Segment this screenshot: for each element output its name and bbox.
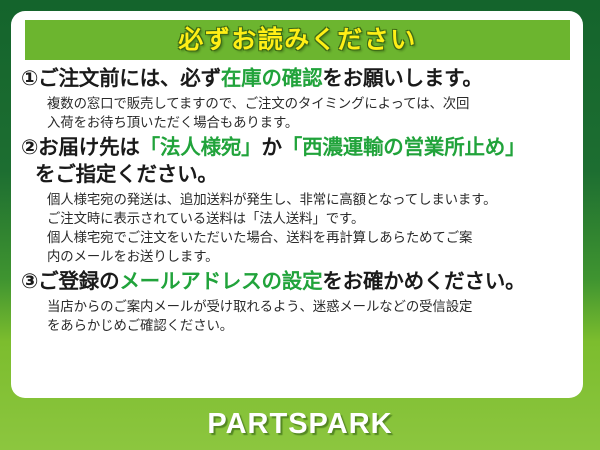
notice-item-2: ②お届け先は「法人様宛」か「西濃運輸の営業所止め」をご指定ください。 個人様宅宛… [21, 135, 575, 266]
notice-item-1: ①ご注文前には、必ず在庫の確認をお願いします。 複数の窓口で販売してますので、ご… [21, 66, 575, 132]
notice-item-2-text-a: お届け先は [38, 136, 140, 159]
notice-item-2-marker: ② [21, 136, 38, 159]
notice-item-1-highlight: 在庫の確認 [221, 67, 323, 90]
notice-item-2-desc-line-2: ご注文時に表示されている送料は「法人送料」です。 [47, 209, 575, 228]
notice-item-3: ③ご登録のメールアドレスの設定をお確かめください。 当店からのご案内メールが受け… [21, 269, 575, 335]
notice-item-3-text-a: ご登録の [38, 270, 119, 293]
notice-item-2-description: 個人様宅宛の発送は、追加送料が発生し、非常に高額となってしまいます。 ご注文時に… [21, 190, 575, 266]
notice-item-1-text-b: をお願いします。 [322, 67, 482, 90]
notice-poster: 必ずお読みください ①ご注文前には、必ず在庫の確認をお願いします。 複数の窓口で… [0, 0, 600, 450]
notice-item-3-heading: ③ご登録のメールアドレスの設定をお確かめください。 [21, 269, 575, 295]
header-banner: 必ずお読みください [25, 20, 570, 60]
notice-item-3-marker: ③ [21, 270, 38, 293]
brand-logo-text: PARTSPARK [207, 408, 392, 441]
notice-item-2-highlight-corporate: 「法人様宛」 [140, 136, 262, 159]
notice-item-2-heading-line-2: をご指定ください。 [21, 162, 575, 188]
notice-items-list: ①ご注文前には、必ず在庫の確認をお願いします。 複数の窓口で販売してますので、ご… [11, 66, 583, 338]
notice-item-2-text-b: か [261, 136, 281, 159]
notice-item-1-desc-line-2: 入荷をお待ち頂いただく場合もあります。 [47, 113, 575, 132]
notice-item-1-marker: ① [21, 67, 38, 90]
notice-item-1-heading: ①ご注文前には、必ず在庫の確認をお願いします。 [21, 66, 575, 92]
notice-card: 必ずお読みください ①ご注文前には、必ず在庫の確認をお願いします。 複数の窓口で… [11, 11, 583, 398]
notice-item-3-text-b: をお確かめください。 [322, 270, 525, 293]
notice-item-2-desc-line-3: 個人様宅宛でご注文をいただいた場合、送料を再計算しあらためてご案 [47, 228, 575, 247]
notice-item-3-description: 当店からのご案内メールが受け取れるよう、迷惑メールなどの受信設定 をあらかじめご… [21, 297, 575, 335]
footer-band: PARTSPARK [0, 398, 600, 450]
notice-item-2-desc-line-1: 個人様宅宛の発送は、追加送料が発生し、非常に高額となってしまいます。 [47, 190, 575, 209]
notice-item-2-highlight-depot: 「西濃運輸の営業所止め」 [282, 136, 526, 159]
notice-item-3-desc-line-1: 当店からのご案内メールが受け取れるよう、迷惑メールなどの受信設定 [47, 297, 575, 316]
notice-item-3-highlight: メールアドレスの設定 [119, 270, 322, 293]
page-title: 必ずお読みください [178, 28, 417, 53]
notice-item-3-desc-line-2: をあらかじめご確認ください。 [47, 316, 575, 335]
notice-item-1-text-a: ご注文前には、必ず [38, 67, 221, 90]
notice-item-1-desc-line-1: 複数の窓口で販売してますので、ご注文のタイミングによっては、次回 [47, 94, 575, 113]
notice-item-1-description: 複数の窓口で販売してますので、ご注文のタイミングによっては、次回 入荷をお待ち頂… [21, 94, 575, 132]
notice-item-2-desc-line-4: 内のメールをお送りします。 [47, 247, 575, 266]
notice-item-2-heading: ②お届け先は「法人様宛」か「西濃運輸の営業所止め」をご指定ください。 [21, 135, 575, 187]
